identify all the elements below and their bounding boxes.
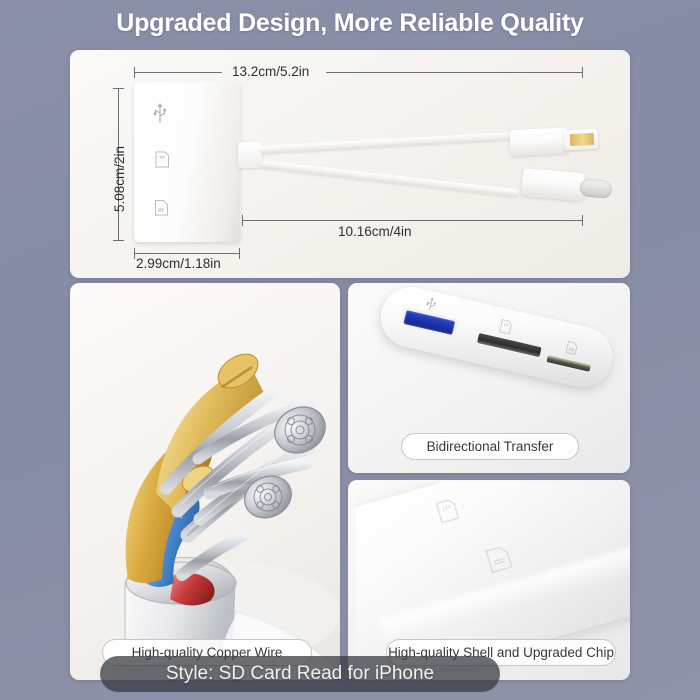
adapter-ports-illustration — [363, 283, 624, 444]
dim-height-cap-bottom — [113, 240, 124, 241]
sd-card-icon — [152, 150, 171, 169]
dim-total-line-right — [326, 72, 582, 73]
dim-cable-line — [242, 220, 582, 221]
dim-width-label: 2.99cm/1.18in — [132, 256, 225, 271]
adapter-ports-body — [375, 283, 618, 393]
dim-total-cap-right — [582, 67, 583, 78]
sd-card-icon — [496, 317, 515, 336]
page-title: Upgraded Design, More Reliable Quality — [116, 9, 584, 38]
ports-panel: Bidirectional Transfer — [348, 283, 630, 473]
dimension-diagram-panel: 13.2cm/5.2in 5.08cm/2in 2.99cm/1.18in 10… — [70, 50, 630, 278]
style-overlay-badge: Style: SD Card Read for iPhone — [100, 656, 500, 692]
usb-icon — [423, 294, 439, 313]
lightning-barrel — [509, 127, 568, 156]
dim-cable-length-label: 10.16cm/4in — [334, 224, 416, 239]
lightning-gold-pins — [570, 133, 595, 146]
cable-neck — [238, 142, 262, 168]
adapter-body-illustration — [134, 82, 240, 242]
cable-branch-usbc — [260, 160, 519, 197]
dim-width-cap-right — [239, 248, 240, 259]
dim-cable-cap-left — [242, 215, 243, 226]
cable-branch-lightning — [260, 131, 520, 154]
dim-total-cap-left — [134, 67, 135, 78]
shell-panel: High-quality Shell and Upgraded Chip — [348, 480, 630, 680]
style-overlay-label: Style: SD Card Read for iPhone — [166, 663, 434, 685]
tf-card-icon — [152, 198, 171, 217]
lightning-connector — [509, 123, 599, 160]
dim-total-line-left — [134, 72, 222, 73]
dim-cable-cap-right — [582, 215, 583, 226]
sd-card-slot — [477, 333, 542, 357]
tf-card-slot — [546, 355, 590, 372]
copper-wire-panel: High-quality Copper Wire — [70, 283, 340, 680]
dim-height-label: 5.08cm/2in — [112, 146, 127, 212]
dim-total-length-label: 13.2cm/5.2in — [228, 64, 313, 79]
dim-width-line — [134, 253, 240, 254]
usb-icon — [152, 100, 168, 124]
usb-c-connector — [521, 166, 615, 206]
caption-bidirectional-transfer: Bidirectional Transfer — [401, 433, 579, 460]
page-title-bar: Upgraded Design, More Reliable Quality — [0, 0, 700, 46]
dim-height-cap-top — [113, 88, 124, 89]
usbc-barrel — [521, 168, 585, 201]
usbc-tip — [579, 178, 612, 199]
cable-cross-section-illustration — [70, 283, 340, 680]
usb-a-port — [403, 310, 455, 335]
tf-card-icon — [563, 339, 581, 357]
